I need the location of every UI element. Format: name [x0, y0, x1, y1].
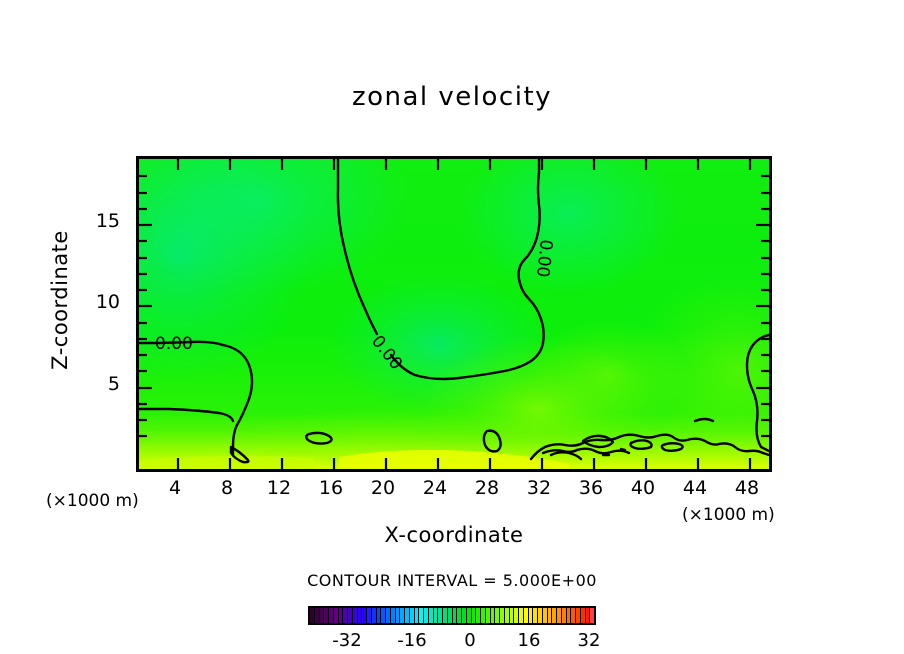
colorbar-gradient: [310, 608, 594, 623]
y-tick-label-10: 10: [86, 291, 120, 313]
colorbar-tick-label-16: 16: [501, 630, 557, 651]
contour-plot-area[interactable]: 0.00 0.00 0.00: [136, 156, 772, 472]
x-tick-label-48: 48: [727, 477, 767, 499]
colorbar-tick-label--16: -16: [384, 630, 440, 651]
x-tick-label-44: 44: [675, 477, 715, 499]
x-axis-unit-note: (×1000 m): [682, 505, 775, 525]
y-tick-label-15: 15: [86, 210, 120, 232]
contour-interval-caption: CONTOUR INTERVAL = 5.000E+00: [0, 571, 904, 590]
figure-canvas: zonal velocity: [0, 0, 904, 654]
contour-field: 0.00 0.00 0.00: [139, 159, 769, 469]
x-tick-label-20: 20: [363, 477, 403, 499]
y-axis-label: Z-coordinate: [48, 190, 72, 410]
contour-label-upper-right: 0.00: [532, 238, 556, 278]
x-tick-label-16: 16: [311, 477, 351, 499]
colorbar-tick-label--32: -32: [319, 630, 375, 651]
x-tick-label-28: 28: [467, 477, 507, 499]
x-tick-label-36: 36: [571, 477, 611, 499]
colorbar-band-59: [590, 608, 594, 623]
x-tick-label-24: 24: [415, 477, 455, 499]
y-axis-unit-note: (×1000 m): [46, 491, 139, 511]
page-title: zonal velocity: [0, 82, 904, 112]
x-tick-label-40: 40: [623, 477, 663, 499]
y-tick-label-5: 5: [86, 373, 120, 395]
x-tick-label-4: 4: [155, 477, 195, 499]
colorbar-tick-label-0: 0: [442, 630, 498, 651]
colorbar-tick-label-32: 32: [561, 630, 617, 651]
x-axis-label: X-coordinate: [136, 523, 772, 547]
x-tick-label-12: 12: [259, 477, 299, 499]
x-tick-label-32: 32: [519, 477, 559, 499]
colorbar[interactable]: [308, 606, 596, 625]
contour-label-left: 0.00: [155, 334, 193, 354]
x-tick-label-8: 8: [207, 477, 247, 499]
